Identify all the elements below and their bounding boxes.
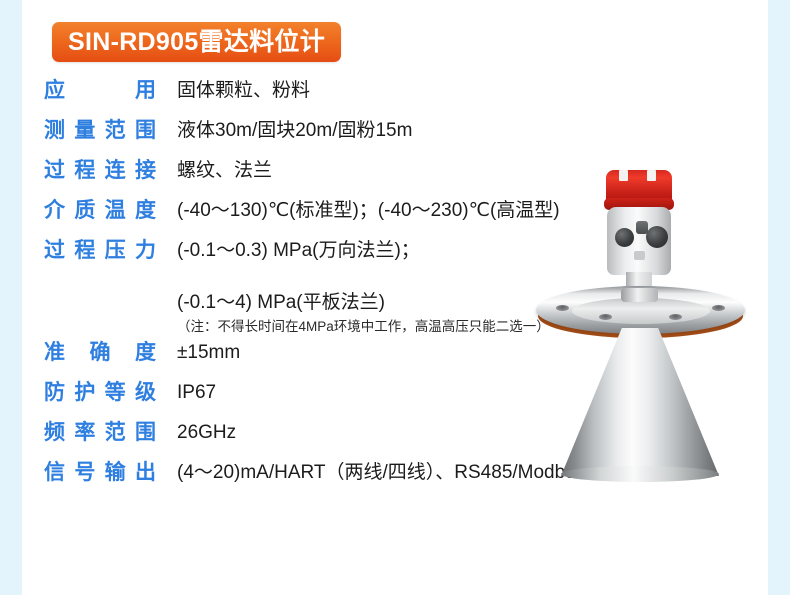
spec-value-medium-temperature: (-40～130)℃(标准型)；(-40～230)℃(高温型) (177, 196, 684, 226)
left-decorative-band (0, 0, 22, 595)
spec-value-process-connection: 螺纹、法兰 (177, 156, 684, 186)
spec-label-process-pressure: 过程压力 (44, 236, 156, 266)
spec-value-pressure-note: （注：不得长时间在4MPa环境中工作，高温高压只能二选一） (177, 318, 684, 336)
specification-table: 应 用 固体颗粒、粉料 测量范围 液体30m/固块20m/固粉15m 过程连接 … (44, 76, 684, 498)
right-decorative-band (768, 0, 790, 595)
spec-value-measuring-range: 液体30m/固块20m/固粉15m (177, 116, 684, 146)
spec-row-process-pressure-secondary: (-0.1～4) MPa(平板法兰) (44, 288, 684, 318)
spec-label-accuracy: 准 确 度 (44, 338, 156, 368)
spec-value-protection-rating: IP67 (177, 378, 684, 408)
spec-label-measuring-range: 测量范围 (44, 116, 156, 146)
product-spec-page: SIN-RD905雷达料位计 应 用 固体颗粒、粉料 测量范围 液体30m/固块… (0, 0, 790, 595)
spec-label-frequency-range: 频率范围 (44, 418, 156, 448)
spec-label-medium-temperature: 介质温度 (44, 196, 156, 226)
spec-label-signal-output: 信号输出 (44, 458, 156, 488)
spec-row-measuring-range: 测量范围 液体30m/固块20m/固粉15m (44, 116, 684, 146)
spec-row-accuracy: 准 确 度 ±15mm (44, 338, 684, 368)
spec-label-application: 应 用 (44, 76, 156, 106)
spec-row-frequency-range: 频率范围 26GHz (44, 418, 684, 448)
spec-row-medium-temperature: 介质温度 (-40～130)℃(标准型)；(-40～230)℃(高温型) (44, 196, 684, 226)
spec-row-pressure-note: （注：不得长时间在4MPa环境中工作，高温高压只能二选一） (44, 318, 684, 336)
flange-bolt-hole (712, 305, 725, 311)
spec-label-process-connection: 过程连接 (44, 156, 156, 186)
spec-row-protection-rating: 防护等级 IP67 (44, 378, 684, 408)
product-title-badge: SIN-RD905雷达料位计 (52, 22, 341, 62)
spec-row-process-pressure: 过程压力 (-0.1～0.3) MPa(万向法兰)； (44, 236, 684, 266)
spec-value-signal-output: (4～20)mA/HART（两线/四线）、RS485/Modbus (177, 458, 684, 488)
spec-value-process-pressure-secondary: (-0.1～4) MPa(平板法兰) (177, 288, 684, 318)
spec-value-accuracy: ±15mm (177, 338, 684, 368)
spec-value-application: 固体颗粒、粉料 (177, 76, 684, 106)
spec-label-protection-rating: 防护等级 (44, 378, 156, 408)
spec-row-process-connection: 过程连接 螺纹、法兰 (44, 156, 684, 186)
product-title-text: SIN-RD905雷达料位计 (68, 30, 325, 55)
spec-row-signal-output: 信号输出 (4～20)mA/HART（两线/四线）、RS485/Modbus (44, 458, 684, 488)
spec-value-process-pressure: (-0.1～0.3) MPa(万向法兰)； (177, 236, 684, 266)
spec-row-application: 应 用 固体颗粒、粉料 (44, 76, 684, 106)
spec-value-frequency-range: 26GHz (177, 418, 684, 448)
